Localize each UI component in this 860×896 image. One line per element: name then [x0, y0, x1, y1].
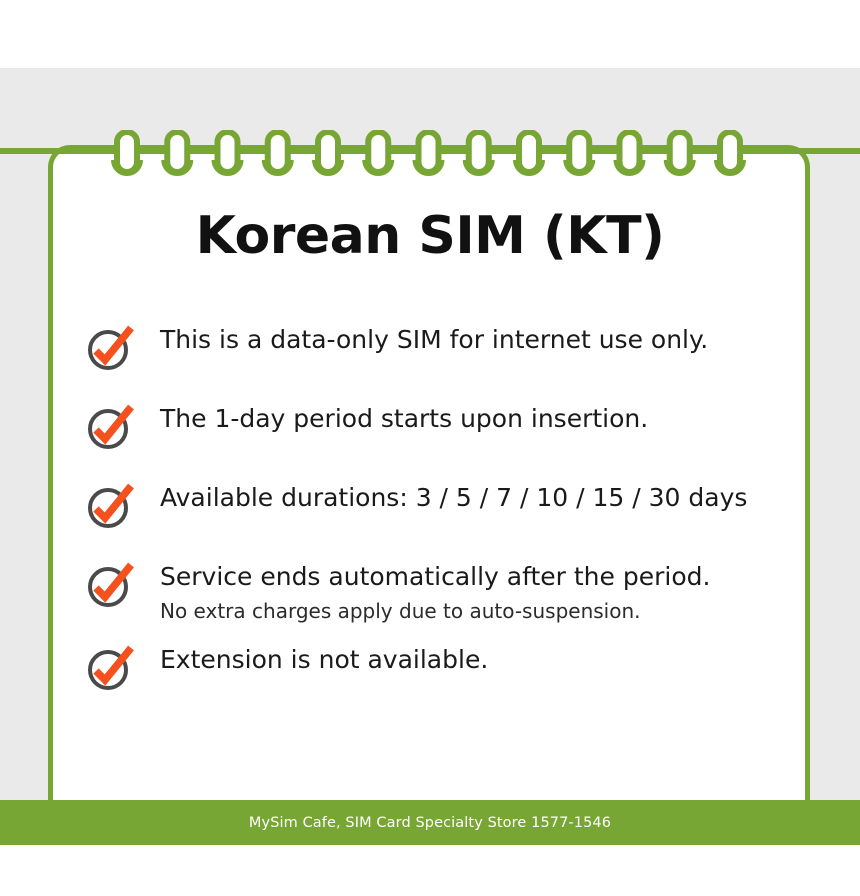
bullet-text: This is a data-only SIM for internet use…	[160, 325, 724, 356]
footer-bar: MySim Cafe, SIM Card Specialty Store 157…	[0, 800, 860, 845]
bullet-item: The 1-day period starts upon insertion.	[84, 401, 724, 453]
orange-check-circle-icon	[84, 401, 136, 453]
bullet-text-group: Service ends automatically after the per…	[160, 559, 724, 624]
bullet-text: The 1-day period starts upon insertion.	[160, 404, 724, 435]
bullet-item: Extension is not available.	[84, 642, 724, 694]
footer-text: MySim Cafe, SIM Card Specialty Store 157…	[249, 815, 611, 831]
bullet-text: Service ends automatically after the per…	[160, 562, 724, 593]
orange-check-circle-icon	[84, 642, 136, 694]
bullet-list: This is a data-only SIM for internet use…	[84, 322, 724, 721]
bullet-text-group: Extension is not available.	[160, 642, 724, 676]
bullet-item: This is a data-only SIM for internet use…	[84, 322, 724, 374]
page-title: Korean SIM (KT)	[0, 210, 860, 262]
bullet-text: Extension is not available.	[160, 645, 724, 676]
bullet-text: Available durations: 3 / 5 / 7 / 10 / 15…	[160, 483, 724, 514]
orange-check-circle-icon	[84, 480, 136, 532]
orange-check-circle-icon	[84, 559, 136, 611]
bullet-item: Service ends automatically after the per…	[84, 559, 724, 624]
orange-check-circle-icon	[84, 322, 136, 374]
bullet-text-group: The 1-day period starts upon insertion.	[160, 401, 724, 435]
bullet-text-group: This is a data-only SIM for internet use…	[160, 322, 724, 356]
bullet-subtext: No extra charges apply due to auto-suspe…	[160, 598, 724, 624]
bullet-item: Available durations: 3 / 5 / 7 / 10 / 15…	[84, 480, 724, 532]
bullet-text-group: Available durations: 3 / 5 / 7 / 10 / 15…	[160, 480, 724, 514]
